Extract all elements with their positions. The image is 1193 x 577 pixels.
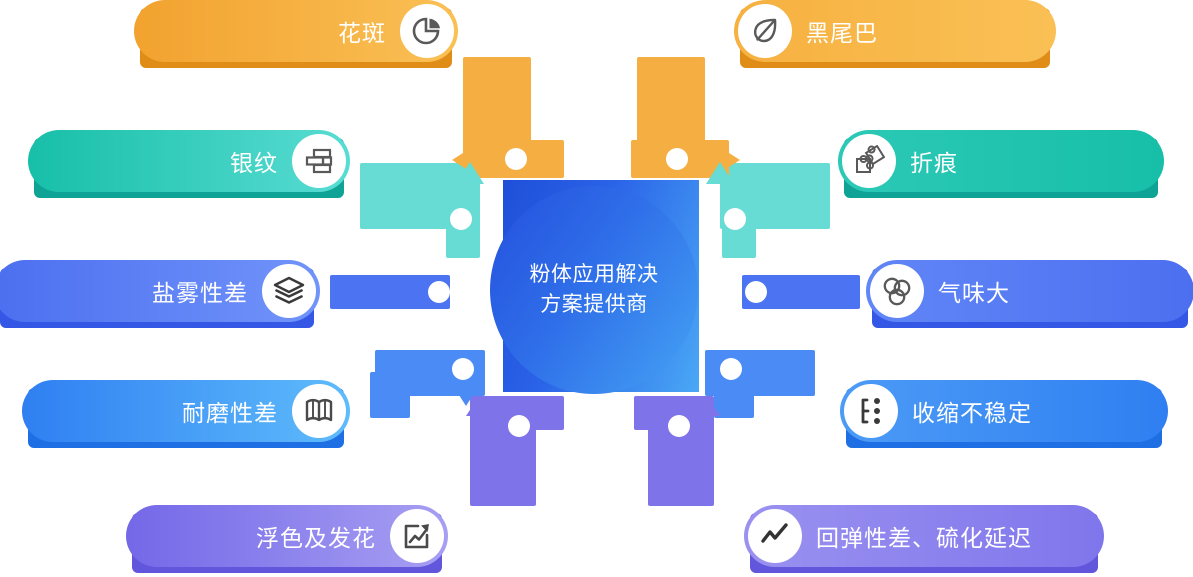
pill-label: 盐雾性差 [152, 274, 248, 308]
pill-shou-suo-bu-wen-ding[interactable]: 收缩不稳定 [840, 380, 1168, 442]
pill-label: 折痕 [910, 144, 958, 178]
map-icon [292, 384, 346, 438]
center-hub-label: 粉体应用解决 方案提供商 [530, 260, 659, 320]
connector-purple-left-arrowhead [466, 396, 492, 416]
pill-label: 浮色及发花 [256, 519, 376, 553]
recycle-icon [870, 264, 924, 318]
connector-dot-purple-right [668, 415, 690, 437]
connector-sky-left-stem [370, 372, 410, 418]
connector-dot-orange-left [505, 148, 527, 170]
pill-label: 花斑 [338, 14, 386, 48]
line-chart-icon [748, 509, 802, 563]
pill-nai-mo-xing-cha[interactable]: 耐磨性差 [22, 380, 350, 442]
pie-chart-icon [400, 4, 454, 58]
pill-label: 耐磨性差 [182, 394, 278, 428]
pill-yin-wen[interactable]: 银纹 [28, 130, 350, 192]
center-hub: 粉体应用解决 方案提供商 [490, 186, 698, 394]
connector-dot-royal-right [745, 281, 767, 303]
sitemap-icon [844, 384, 898, 438]
pill-fu-se-ji-fa-hua[interactable]: 浮色及发花 [126, 505, 448, 567]
connector-dot-sky-left [452, 358, 474, 380]
connector-dot-teal-left [450, 208, 472, 230]
leaf-icon [738, 4, 792, 58]
pill-hui-tan-xing-cha[interactable]: 回弹性差、硫化延迟 [744, 505, 1104, 567]
connector-dot-orange-right [666, 148, 688, 170]
pill-yan-wu-xing-cha[interactable]: 盐雾性差 [0, 260, 320, 322]
layers-icon [262, 264, 316, 318]
chart-arrow-up-icon [390, 509, 444, 563]
connector-dot-purple-left [508, 415, 530, 437]
pill-label: 黑尾巴 [806, 14, 878, 48]
brick-wall-icon [292, 134, 346, 188]
infographic-canvas: 粉体应用解决 方案提供商 花斑 黑尾巴 [0, 0, 1193, 577]
pill-label: 收缩不稳定 [912, 394, 1032, 428]
connector-dot-teal-right [724, 208, 746, 230]
connector-dot-sky-right [720, 358, 742, 380]
pill-qi-wei-da[interactable]: 气味大 [866, 260, 1193, 322]
puzzle-piece-icon [842, 134, 896, 188]
connector-teal-left-arrowhead [456, 162, 484, 184]
connector-dot-royal-left [428, 281, 450, 303]
pill-label: 回弹性差、硫化延迟 [816, 519, 1032, 553]
pill-label: 气味大 [938, 274, 1010, 308]
connector-teal-right-arrowhead [706, 162, 734, 184]
pill-label: 银纹 [230, 144, 278, 178]
pill-hua-ban[interactable]: 花斑 [134, 0, 458, 62]
pill-hei-wei-ba[interactable]: 黑尾巴 [734, 0, 1056, 62]
pill-zhe-hen[interactable]: 折痕 [838, 130, 1164, 192]
connector-purple-right-arrowhead [694, 396, 720, 416]
